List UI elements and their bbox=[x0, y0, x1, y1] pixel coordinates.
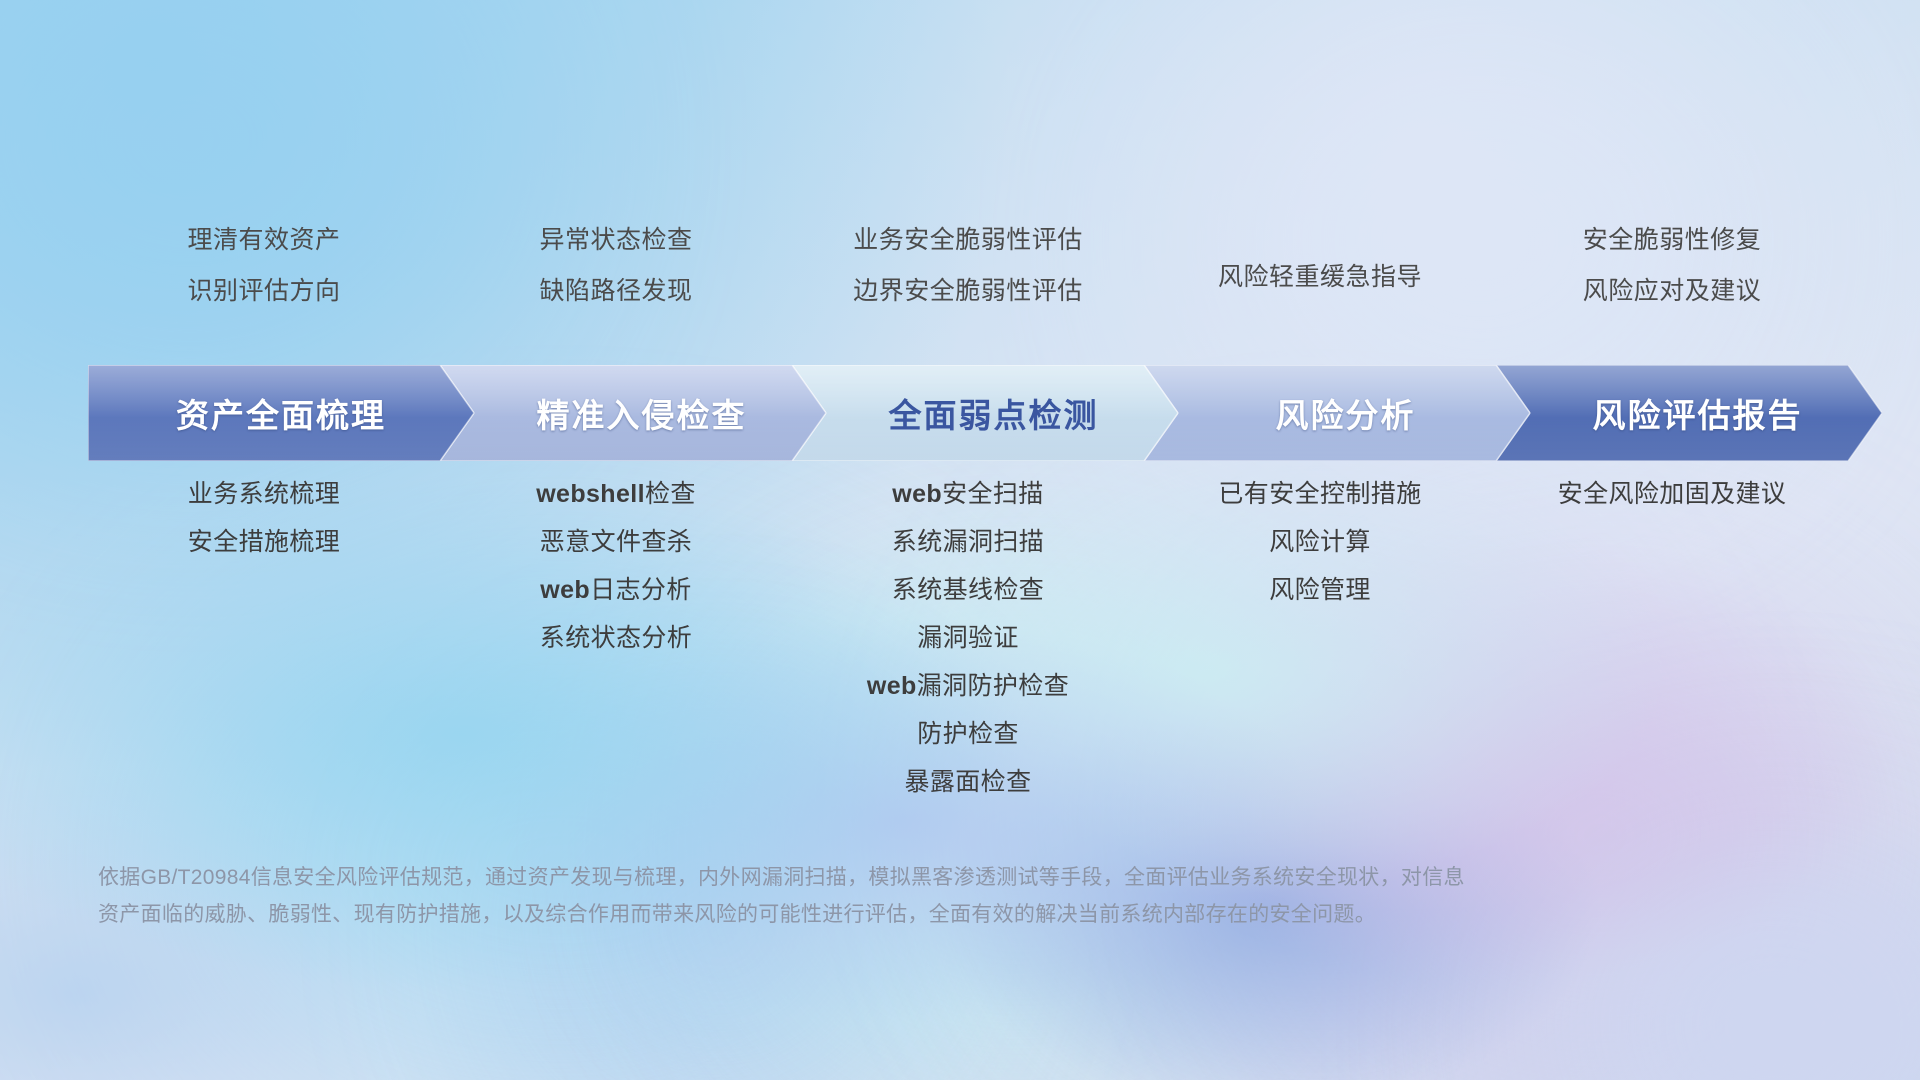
bottom-list-item: 安全措施梳理 bbox=[188, 530, 340, 555]
bottom-list-item: 业务系统梳理 bbox=[188, 482, 340, 507]
top-label-item: 安全脆弱性修复 bbox=[1583, 228, 1762, 253]
bottom-list-item-keyword: webshell bbox=[536, 480, 645, 508]
bottom-list-item: 恶意文件查杀 bbox=[540, 530, 692, 555]
top-labels-assessment-report: 安全脆弱性修复风险应对及建议 bbox=[1496, 228, 1848, 304]
process-stage-intrusion-check[interactable]: 精准入侵检查 bbox=[440, 365, 826, 461]
bottom-list-item: 暴露面检查 bbox=[904, 770, 1031, 795]
bottom-list-item: webshell检查 bbox=[536, 482, 696, 507]
bottom-list-item: web日志分析 bbox=[540, 578, 691, 603]
bottom-list-item: 风险计算 bbox=[1269, 530, 1371, 555]
top-labels-intrusion-check: 异常状态检查缺陷路径发现 bbox=[440, 228, 792, 304]
top-label-item: 风险应对及建议 bbox=[1583, 279, 1762, 304]
process-stage-assessment-report[interactable]: 风险评估报告 bbox=[1496, 365, 1882, 461]
stage-title-weakness-detection: 全面弱点检测 bbox=[889, 389, 1099, 437]
bottom-list-assessment-report: 安全风险加固及建议 bbox=[1496, 482, 1848, 530]
top-label-row: 理清有效资产识别评估方向异常状态检查缺陷路径发现业务安全脆弱性评估边界安全脆弱性… bbox=[0, 228, 1920, 348]
bottom-list-risk-analysis: 已有安全控制措施风险计算风险管理 bbox=[1144, 482, 1496, 626]
process-stage-asset-inventory[interactable]: 资产全面梳理 bbox=[88, 365, 474, 461]
infographic-root: 理清有效资产识别评估方向异常状态检查缺陷路径发现业务安全脆弱性评估边界安全脆弱性… bbox=[0, 0, 1920, 1080]
bottom-list-item: 已有安全控制措施 bbox=[1218, 482, 1421, 507]
top-labels-asset-inventory: 理清有效资产识别评估方向 bbox=[88, 228, 440, 304]
bottom-list-item-keyword: web bbox=[892, 480, 942, 508]
footer-line-1: 依据GB/T20984信息安全风险评估规范，通过资产发现与梳理，内外网漏洞扫描，… bbox=[98, 860, 1598, 897]
bottom-list-item: 漏洞验证 bbox=[917, 626, 1019, 651]
bottom-list-item: 系统状态分析 bbox=[540, 626, 692, 651]
stage-title-intrusion-check: 精准入侵检查 bbox=[537, 389, 747, 437]
stage-title-asset-inventory: 资产全面梳理 bbox=[176, 389, 386, 437]
bottom-list-item: 防护检查 bbox=[917, 722, 1019, 747]
footer-line-2: 资产面临的威胁、脆弱性、现有防护措施，以及综合作用而带来风险的可能性进行评估，全… bbox=[98, 897, 1598, 934]
bottom-list-item: 系统漏洞扫描 bbox=[892, 530, 1044, 555]
bottom-list-asset-inventory: 业务系统梳理安全措施梳理 bbox=[88, 482, 440, 578]
process-arrow-band: 资产全面梳理精准入侵检查全面弱点检测风险分析风险评估报告 bbox=[88, 365, 1848, 461]
bottom-list-item-keyword: web bbox=[540, 576, 590, 604]
bottom-list-intrusion-check: webshell检查恶意文件查杀web日志分析系统状态分析 bbox=[440, 482, 792, 674]
process-stage-risk-analysis[interactable]: 风险分析 bbox=[1144, 365, 1530, 461]
bottom-list-item: web安全扫描 bbox=[892, 482, 1043, 507]
top-label-item: 风险轻重缓急指导 bbox=[1218, 265, 1422, 290]
top-label-item: 识别评估方向 bbox=[187, 279, 340, 304]
bottom-list-item: 风险管理 bbox=[1269, 578, 1371, 603]
bottom-list-item-keyword: web bbox=[867, 672, 917, 700]
process-stage-weakness-detection[interactable]: 全面弱点检测 bbox=[792, 365, 1178, 461]
bottom-list-weakness-detection: web安全扫描系统漏洞扫描系统基线检查漏洞验证web漏洞防护检查防护检查暴露面检… bbox=[792, 482, 1144, 818]
top-labels-risk-analysis: 风险轻重缓急指导 bbox=[1144, 265, 1496, 290]
footer-description: 依据GB/T20984信息安全风险评估规范，通过资产发现与梳理，内外网漏洞扫描，… bbox=[98, 860, 1598, 934]
bottom-list-item: web漏洞防护检查 bbox=[867, 674, 1069, 699]
top-labels-weakness-detection: 业务安全脆弱性评估边界安全脆弱性评估 bbox=[792, 228, 1144, 304]
bottom-list-item: 系统基线检查 bbox=[892, 578, 1044, 603]
top-label-item: 边界安全脆弱性评估 bbox=[853, 279, 1083, 304]
top-label-item: 业务安全脆弱性评估 bbox=[853, 228, 1083, 253]
bottom-list-item: 安全风险加固及建议 bbox=[1558, 482, 1787, 507]
stage-title-risk-analysis: 风险分析 bbox=[1276, 389, 1416, 437]
top-label-item: 缺陷路径发现 bbox=[539, 279, 692, 304]
top-label-item: 理清有效资产 bbox=[187, 228, 340, 253]
top-label-item: 异常状态检查 bbox=[539, 228, 692, 253]
stage-title-assessment-report: 风险评估报告 bbox=[1593, 389, 1803, 437]
